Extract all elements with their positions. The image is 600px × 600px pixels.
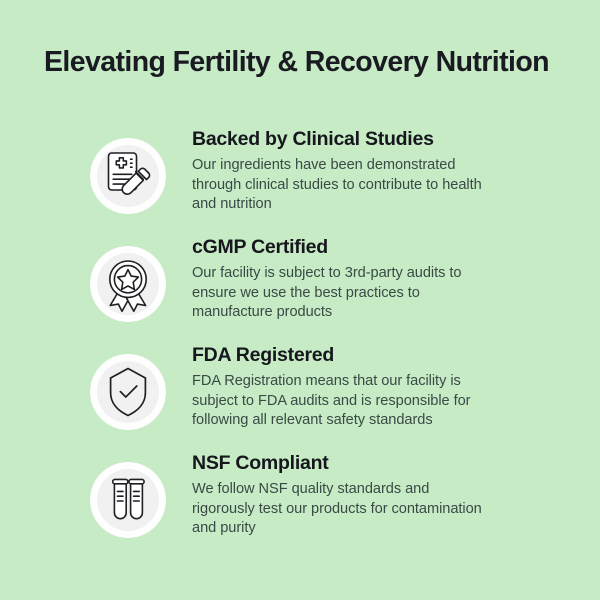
feature-icon: [90, 462, 166, 538]
feature-heading: FDA Registered: [192, 344, 576, 367]
feature-item: NSF Compliant We follow NSF quality stan…: [0, 444, 600, 544]
feature-heading: NSF Compliant: [192, 452, 576, 475]
feature-body: We follow NSF quality standards and rigo…: [192, 480, 492, 538]
shield-check-icon: [90, 354, 166, 430]
feature-text: NSF Compliant We follow NSF quality stan…: [192, 444, 600, 539]
feature-text: cGMP Certified Our facility is subject t…: [192, 228, 600, 323]
feature-body: Our facility is subject to 3rd-party aud…: [192, 264, 492, 322]
feature-text: Backed by Clinical Studies Our ingredien…: [192, 120, 600, 215]
award-badge-star-icon: [90, 246, 166, 322]
clipboard-pipette-icon: [90, 138, 166, 214]
feature-list: Backed by Clinical Studies Our ingredien…: [0, 120, 600, 552]
feature-icon: [90, 246, 166, 322]
feature-item: cGMP Certified Our facility is subject t…: [0, 228, 600, 328]
promo-panel: Elevating Fertility & Recovery Nutrition: [0, 0, 600, 600]
feature-heading: cGMP Certified: [192, 236, 576, 259]
feature-heading: Backed by Clinical Studies: [192, 128, 576, 151]
feature-text: FDA Registered FDA Registration means th…: [192, 336, 600, 431]
page-title: Elevating Fertility & Recovery Nutrition: [44, 46, 564, 79]
feature-icon: [90, 354, 166, 430]
feature-body: FDA Registration means that our facility…: [192, 372, 492, 430]
feature-item: Backed by Clinical Studies Our ingredien…: [0, 120, 600, 220]
feature-icon: [90, 138, 166, 214]
feature-item: FDA Registered FDA Registration means th…: [0, 336, 600, 436]
test-tubes-icon: [90, 462, 166, 538]
feature-body: Our ingredients have been demonstrated t…: [192, 156, 492, 214]
